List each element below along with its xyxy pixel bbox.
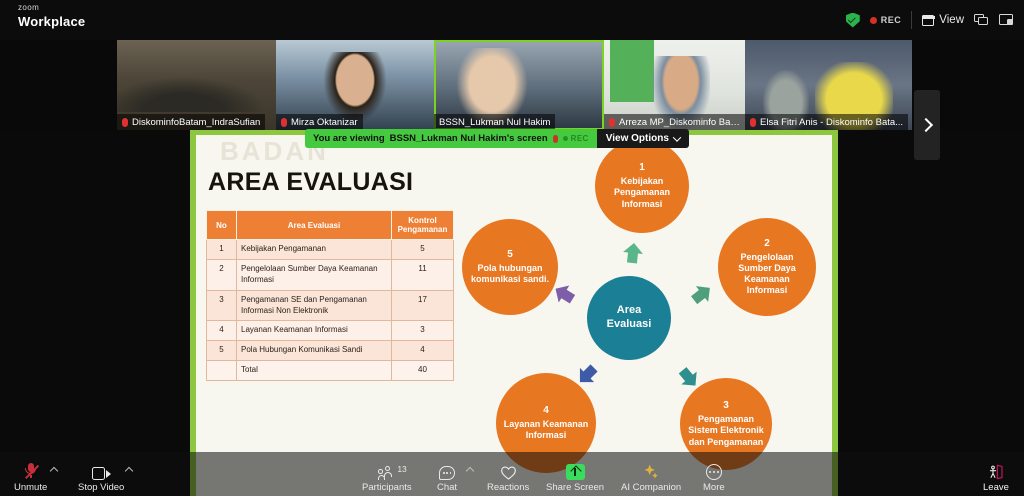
participants-count-badge: 13	[397, 464, 406, 474]
cell-no: 5	[207, 341, 237, 361]
banner-rec-label: REC	[571, 134, 589, 143]
calendar-icon	[922, 15, 934, 26]
cell-area: Pengelolaan Sumber Daya Keamanan Informa…	[237, 260, 392, 291]
diagram-node-label: Pengamanan Sistem Elektronik dan Pengama…	[680, 414, 772, 448]
leave-label: Leave	[983, 482, 1009, 493]
toolbar-items: Unmute Stop Video 13 Participants	[0, 452, 1024, 496]
record-dot-icon	[870, 17, 877, 24]
chevron-arrow-right-icon	[685, 277, 719, 311]
mic-muted-icon	[25, 463, 37, 480]
top-bar-right-controls: REC View	[846, 0, 1014, 40]
diagram-node-number: 3	[723, 400, 729, 411]
column-header-kontrol: Kontrol Pengamanan	[392, 211, 454, 240]
diagram-node-label: Layanan Keamanan Informasi	[496, 419, 596, 442]
chat-icon	[439, 463, 455, 480]
video-thumbnail[interactable]: Arreza MP_Diskominfo Batam	[604, 40, 745, 130]
diagram-node-label: Pola hubungan komunikasi sandi.	[462, 263, 558, 286]
cell-total-value: 40	[392, 360, 454, 380]
diagram-node-5: 5 Pola hubungan komunikasi sandi.	[462, 219, 558, 315]
column-header-no: No	[207, 211, 237, 240]
view-button-label: View	[939, 14, 964, 26]
table-row-total: Total 40	[207, 360, 454, 380]
diagram-center-label: Area Evaluasi	[587, 304, 671, 332]
cell-kontrol: 4	[392, 341, 454, 361]
video-thumbnail[interactable]: DiskominfoBatam_IndraSufian	[117, 40, 276, 130]
more-label: More	[703, 482, 725, 493]
cell-area: Pola Hubungan Komunikasi Sandi	[237, 341, 392, 361]
participant-filmstrip: DiskominfoBatam_IndraSufian Mirza Oktani…	[0, 40, 1024, 130]
diagram-node-1: 1 Kebijakan Pengamanan Informasi	[595, 139, 689, 233]
unmute-label: Unmute	[14, 482, 47, 493]
mic-muted-icon	[609, 118, 615, 127]
zoom-meeting-window: zoom Workplace REC View DiskominfoBatam_…	[0, 0, 1024, 496]
video-thumbnail[interactable]: Elsa Fitri Anis - Diskominfo Bata...	[745, 40, 912, 130]
diagram-node-label: Pengelolaan Sumber Daya Keamanan Informa…	[718, 252, 816, 297]
participants-label: Participants	[362, 482, 412, 493]
video-thumbnail-active-speaker[interactable]: BSSN_Lukman Nul Hakim	[434, 40, 604, 130]
chevron-up-icon	[124, 467, 132, 475]
cell-kontrol: 11	[392, 260, 454, 291]
shared-screen-content: BADAN AREA EVALUASI No Area Evaluasi Kon…	[190, 130, 838, 496]
participant-name-bar: BSSN_Lukman Nul Hakim	[434, 114, 555, 130]
slide-border-right	[832, 130, 838, 496]
brand-workplace-text: Workplace	[18, 15, 85, 28]
diagram-node-number: 5	[507, 249, 513, 260]
table-row: 2 Pengelolaan Sumber Daya Keamanan Infor…	[207, 260, 454, 291]
video-thumbnail[interactable]: Mirza Oktanizar	[276, 40, 434, 130]
share-screen-label: Share Screen	[546, 482, 604, 493]
cell-no: 3	[207, 290, 237, 321]
table-row: 3 Pengamanan SE dan Pengamanan Informasi…	[207, 290, 454, 321]
chevron-up-icon	[49, 467, 57, 475]
slide-border-left	[190, 130, 196, 496]
participant-name: BSSN_Lukman Nul Hakim	[439, 117, 550, 128]
ai-sparkle-icon	[642, 463, 660, 480]
more-dots-icon	[706, 463, 722, 480]
reactions-heart-icon	[500, 463, 517, 480]
filmstrip-next-button[interactable]	[914, 90, 940, 160]
column-header-area: Area Evaluasi	[237, 211, 392, 240]
zoom-brand-logo: zoom Workplace	[18, 4, 85, 28]
cell-kontrol: 3	[392, 321, 454, 341]
mic-muted-icon	[281, 118, 287, 127]
table-header-row: No Area Evaluasi Kontrol Pengamanan	[207, 211, 454, 240]
participant-name: Elsa Fitri Anis - Diskominfo Bata...	[760, 117, 903, 128]
cell-no: 2	[207, 260, 237, 291]
mic-muted-icon	[122, 118, 128, 127]
mic-muted-icon	[553, 135, 558, 143]
area-evaluasi-table: No Area Evaluasi Kontrol Pengamanan 1 Ke…	[206, 210, 454, 381]
table-row: 5 Pola Hubungan Komunikasi Sandi 4	[207, 341, 454, 361]
participant-name-bar: Arreza MP_Diskominfo Batam	[604, 114, 745, 130]
table-row: 1 Kebijakan Pengamanan 5	[207, 240, 454, 260]
viewing-text: You are viewing	[313, 133, 385, 144]
ai-companion-button[interactable]: AI Companion	[621, 463, 681, 493]
participant-name: Mirza Oktanizar	[291, 117, 358, 128]
chevron-arrow-up-icon	[620, 240, 646, 266]
cell-area: Pengamanan SE dan Pengamanan Informasi N…	[237, 290, 392, 321]
reactions-label: Reactions	[487, 482, 529, 493]
brand-zoom-text: zoom	[18, 4, 85, 12]
chevron-down-icon	[673, 133, 681, 141]
diagram-node-number: 2	[764, 238, 770, 249]
participants-button[interactable]: 13 Participants	[362, 463, 412, 493]
participants-icon: 13	[378, 463, 395, 480]
chat-button[interactable]: Chat	[437, 463, 457, 493]
view-options-button[interactable]: View Options	[597, 129, 689, 148]
diagram-node-number: 4	[543, 405, 549, 416]
minimize-window-icon[interactable]	[974, 14, 989, 26]
recording-indicator[interactable]: REC	[870, 15, 902, 25]
cell-no: 4	[207, 321, 237, 341]
unmute-button[interactable]: Unmute	[14, 463, 47, 493]
cell-area: Kebijakan Pengamanan	[237, 240, 392, 260]
view-options-label: View Options	[606, 133, 669, 144]
screen-share-banner: You are viewing BSSN_Lukman Nul Hakim's …	[305, 129, 689, 148]
share-screen-icon	[566, 463, 585, 480]
cell-no	[207, 360, 237, 380]
cell-kontrol: 5	[392, 240, 454, 260]
participant-name: Arreza MP_Diskominfo Batam	[619, 117, 740, 128]
cell-no: 1	[207, 240, 237, 260]
participant-name: DiskominfoBatam_IndraSufian	[132, 117, 260, 128]
diagram-node-number: 1	[639, 162, 645, 173]
diagram-center-node: Area Evaluasi	[587, 276, 671, 360]
mic-muted-icon	[750, 118, 756, 127]
diagram-node-2: 2 Pengelolaan Sumber Daya Keamanan Infor…	[718, 218, 816, 316]
cell-total-label: Total	[237, 360, 392, 380]
reactions-button[interactable]: Reactions	[487, 463, 529, 493]
participant-name-bar: DiskominfoBatam_IndraSufian	[117, 114, 265, 130]
viewing-notice: You are viewing BSSN_Lukman Nul Hakim's …	[305, 129, 597, 148]
share-screen-button[interactable]: Share Screen	[546, 463, 604, 493]
ai-companion-label: AI Companion	[621, 482, 681, 493]
leave-meeting-button[interactable]: Leave	[983, 463, 1009, 493]
participant-name-bar: Mirza Oktanizar	[276, 114, 363, 130]
meeting-toolbar: Unmute Stop Video 13 Participants	[0, 452, 1024, 496]
rec-label: REC	[881, 15, 902, 25]
shield-check-icon[interactable]	[846, 13, 860, 28]
slide-title: AREA EVALUASI	[208, 168, 413, 197]
top-bar: zoom Workplace REC View	[0, 0, 1024, 40]
participant-name-bar: Elsa Fitri Anis - Diskominfo Bata...	[745, 114, 908, 130]
toolbar-divider	[911, 11, 912, 29]
view-button[interactable]: View	[922, 14, 964, 26]
presenter-name: BSSN_Lukman Nul Hakim's screen	[390, 133, 548, 144]
diagram-node-label: Kebijakan Pengamanan Informasi	[595, 176, 689, 210]
chat-label: Chat	[437, 482, 457, 493]
record-dot-icon	[563, 136, 568, 141]
table-row: 4 Layanan Keamanan Informasi 3	[207, 321, 454, 341]
cell-kontrol: 17	[392, 290, 454, 321]
banner-recording-indicator: REC	[563, 134, 589, 143]
cell-area: Layanan Keamanan Informasi	[237, 321, 392, 341]
chevron-up-icon	[466, 467, 474, 475]
stop-video-button[interactable]: Stop Video	[78, 463, 124, 493]
fullscreen-window-icon[interactable]	[999, 14, 1014, 26]
more-button[interactable]: More	[703, 463, 725, 493]
slide-canvas: BADAN AREA EVALUASI No Area Evaluasi Kon…	[190, 130, 838, 496]
stop-video-label: Stop Video	[78, 482, 124, 493]
leave-meeting-icon	[987, 463, 1005, 480]
camera-icon	[92, 463, 111, 480]
